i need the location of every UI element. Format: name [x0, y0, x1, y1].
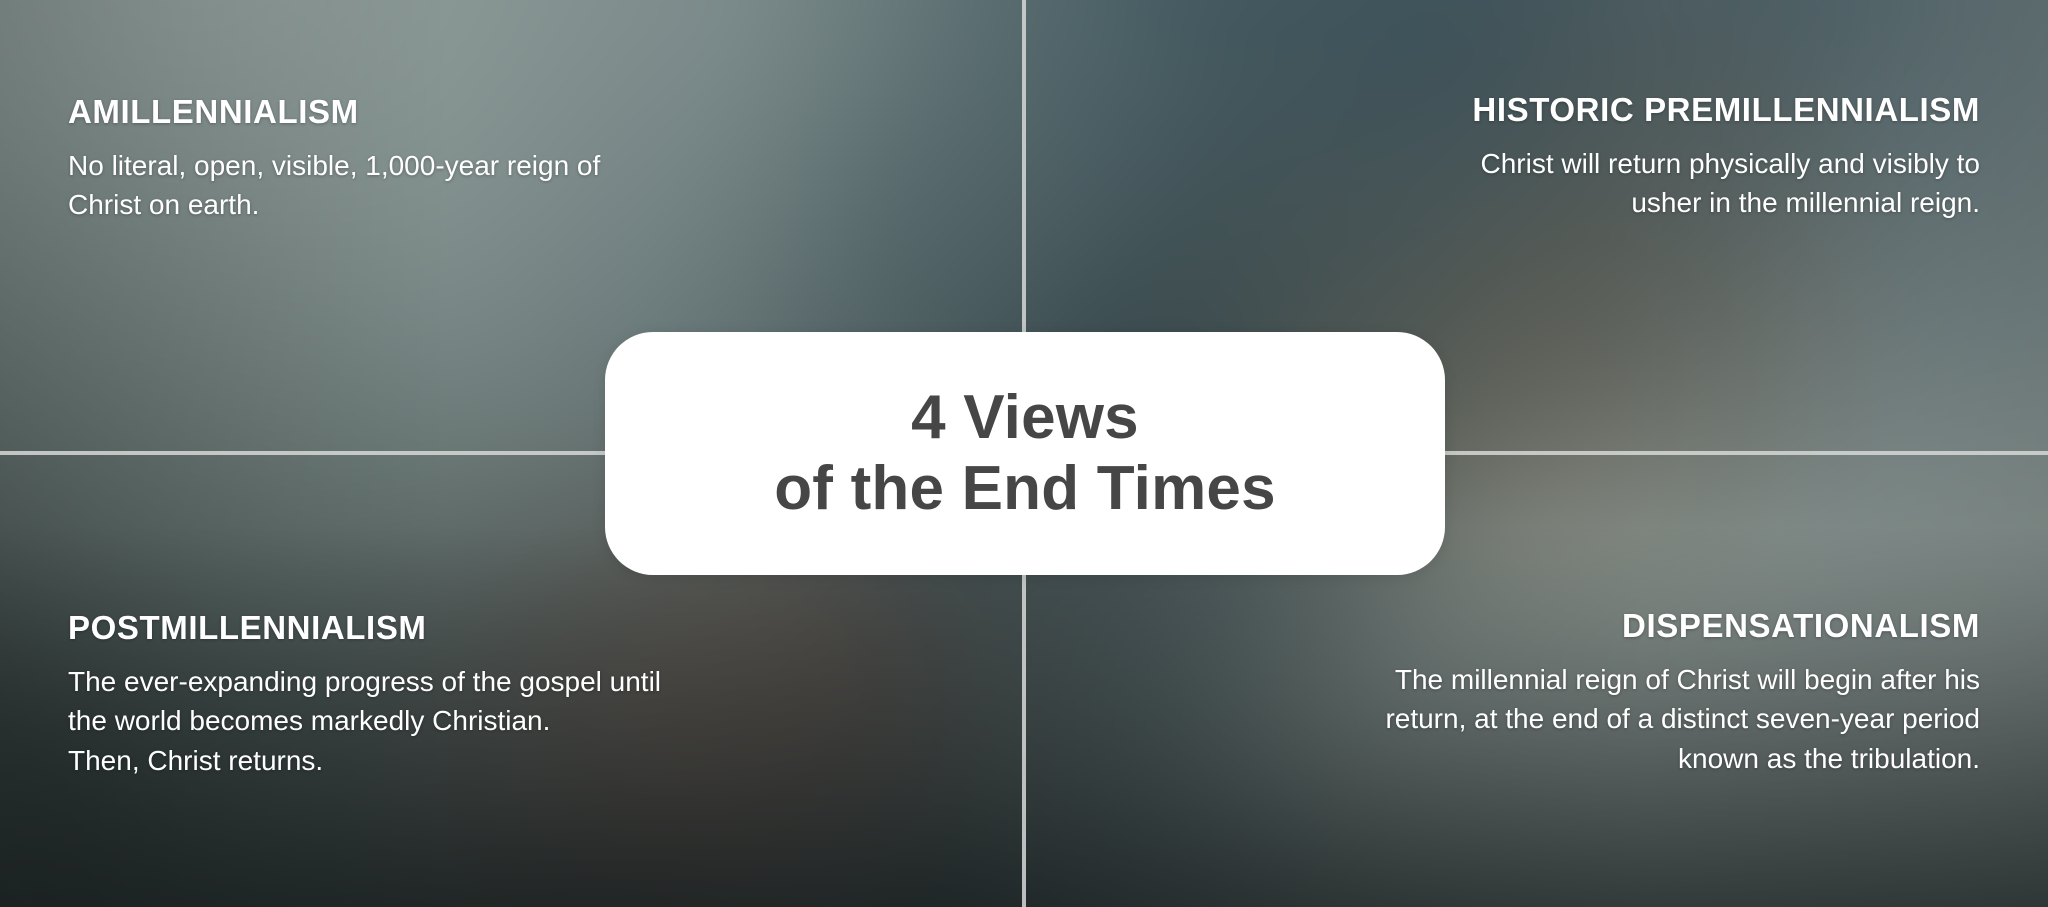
- quadrant-amillennialism: AMILLENNIALISM No literal, open, visible…: [68, 94, 908, 225]
- quadrant-heading-dispensationalism: DISPENSATIONALISM: [1080, 608, 1980, 644]
- quadrant-body-amillennialism: No literal, open, visible, 1,000-year re…: [68, 146, 908, 226]
- quadrant-historic-premillennialism: HISTORIC PREMILLENNIALISM Christ will re…: [1080, 92, 1980, 223]
- quadrant-dispensationalism: DISPENSATIONALISM The millennial reign o…: [1080, 608, 1980, 779]
- quadrant-heading-postmillennialism: POSTMILLENNIALISM: [68, 610, 968, 646]
- quadrant-postmillennialism: POSTMILLENNIALISM The ever-expanding pro…: [68, 610, 968, 781]
- quadrant-heading-historic-premillennialism: HISTORIC PREMILLENNIALISM: [1080, 92, 1980, 128]
- quadrant-body-postmillennialism: The ever-expanding progress of the gospe…: [68, 662, 968, 781]
- quadrant-body-dispensationalism: The millennial reign of Christ will begi…: [1080, 660, 1980, 779]
- infographic-canvas: AMILLENNIALISM No literal, open, visible…: [0, 0, 2048, 907]
- center-title-text: 4 Views of the End Times: [774, 383, 1276, 524]
- quadrant-body-historic-premillennialism: Christ will return physically and visibl…: [1080, 144, 1980, 224]
- center-title-card: 4 Views of the End Times: [605, 332, 1445, 575]
- quadrant-heading-amillennialism: AMILLENNIALISM: [68, 94, 908, 130]
